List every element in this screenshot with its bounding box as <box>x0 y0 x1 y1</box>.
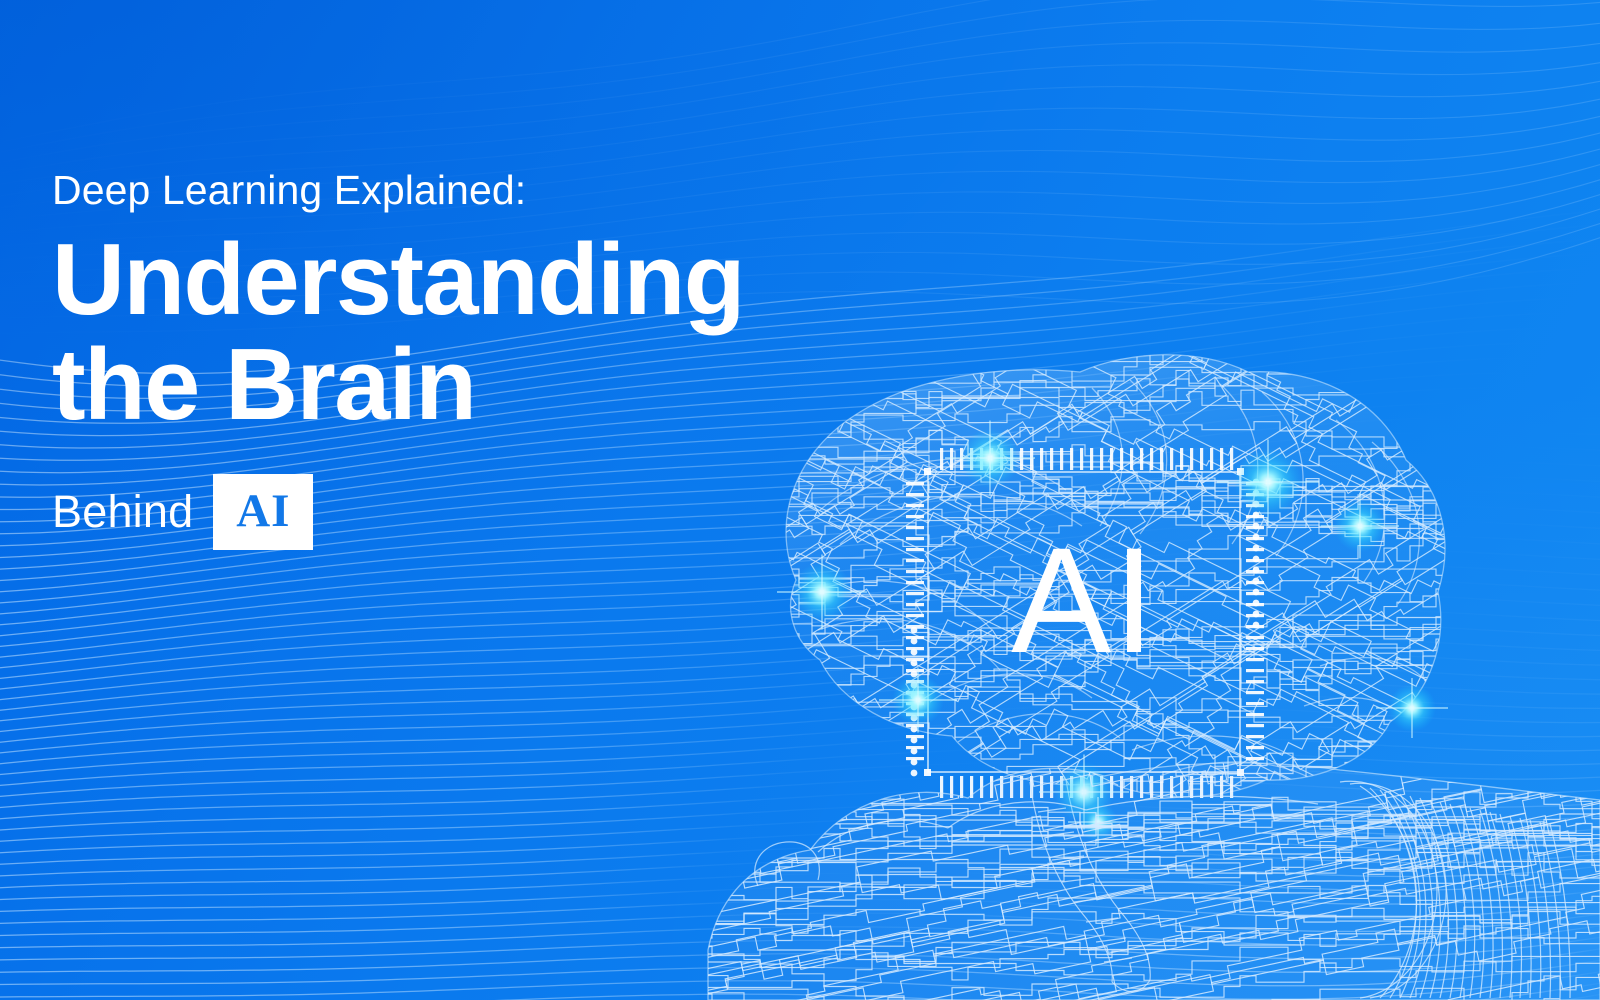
wave-line-faint <box>0 0 1600 160</box>
chip-rail-dot <box>911 759 918 766</box>
chip-pin <box>1030 448 1033 470</box>
chip-pin <box>906 592 924 595</box>
chip-pin <box>1040 448 1043 470</box>
chip-pin <box>906 559 924 562</box>
chip-rail-dot <box>911 627 918 634</box>
chip-rail-dot <box>911 660 918 667</box>
chip-pin <box>950 448 953 470</box>
chip-pin <box>1130 448 1133 470</box>
chip-pin <box>960 776 963 798</box>
chip-pin <box>906 493 924 496</box>
chip-pin <box>906 526 924 529</box>
chip-rail-dot <box>1253 556 1260 563</box>
eyebrow-text: Deep Learning Explained: <box>52 168 872 214</box>
chip-rail-dot <box>1253 622 1260 629</box>
chip-pin <box>1050 448 1053 470</box>
chip-pin <box>906 515 924 518</box>
ai-badge-label: AI <box>236 488 290 535</box>
chip-pin <box>1246 757 1264 760</box>
chip-pin <box>1246 735 1264 738</box>
chip-pin <box>1120 448 1123 470</box>
chip-pin <box>1190 448 1193 470</box>
chip-rail-dot <box>1253 567 1260 574</box>
chip-pin <box>1246 691 1264 694</box>
chip-pin <box>906 570 924 573</box>
chip-pin <box>1210 448 1213 470</box>
chip-pin <box>1020 448 1023 470</box>
chip-rail-dot <box>911 726 918 733</box>
chip-rail-dot <box>1253 600 1260 607</box>
chip-rail-dot <box>1253 523 1260 530</box>
chip-pin <box>1246 658 1264 661</box>
chip-pin <box>940 448 943 470</box>
chip-pin <box>906 504 924 507</box>
chip-pin <box>906 548 924 551</box>
chip-pin <box>1100 448 1103 470</box>
ai-chip-label: AI <box>1011 516 1157 684</box>
chip-rail-dot <box>911 638 918 645</box>
wave-line-faint <box>0 0 1600 151</box>
chip-rail-dot <box>1253 534 1260 541</box>
headline-line-1: Understanding <box>52 228 872 334</box>
chip-pin <box>906 581 924 584</box>
chip-pin <box>1150 448 1153 470</box>
ai-badge: AI <box>213 474 313 550</box>
chip-pin <box>1080 448 1083 470</box>
chip-rail-dot <box>1253 589 1260 596</box>
chip-rail-dot <box>1253 578 1260 585</box>
chip-pin <box>1090 448 1093 470</box>
chip-pin <box>1220 448 1223 470</box>
chip-pin <box>1246 724 1264 727</box>
chip-pin <box>1246 713 1264 716</box>
chip-rail-dot <box>911 770 918 777</box>
headline-group: Deep Learning Explained: Understanding t… <box>52 168 872 551</box>
chip-pin <box>1070 448 1073 470</box>
page-title: Understanding the Brain <box>52 228 872 439</box>
wave-line-faint <box>0 18 1600 171</box>
chip-rail-dot <box>911 748 918 755</box>
chip-rail-dot <box>1253 545 1260 552</box>
chip-pin <box>906 614 924 617</box>
chip-pin <box>1246 702 1264 705</box>
chip-pin <box>1246 636 1264 639</box>
chip-pin <box>1246 746 1264 749</box>
chip-pin <box>1180 448 1183 470</box>
chip-pin <box>1160 448 1163 470</box>
chip-pin <box>1200 448 1203 470</box>
chip-pin <box>1246 680 1264 683</box>
kicker-group: Behind AI <box>52 473 872 551</box>
chip-rail-dot <box>911 737 918 744</box>
chip-pin <box>906 537 924 540</box>
chip-pin <box>906 482 924 485</box>
chip-rail-dot <box>911 649 918 656</box>
chip-pin <box>1246 647 1264 650</box>
headline-line-2: the Brain <box>52 333 872 439</box>
chip-rail-dot <box>1253 611 1260 618</box>
poster-canvas: AI <box>0 0 1600 1000</box>
chip-pin <box>1230 448 1233 470</box>
kicker-word: Behind <box>52 489 213 534</box>
chip-pin <box>1246 669 1264 672</box>
chip-pin <box>1140 448 1143 470</box>
chip-pin <box>1170 448 1173 470</box>
chip-pin <box>1110 448 1113 470</box>
wave-line-faint <box>0 37 1600 181</box>
chip-pin <box>1060 448 1063 470</box>
chip-pin <box>906 603 924 606</box>
